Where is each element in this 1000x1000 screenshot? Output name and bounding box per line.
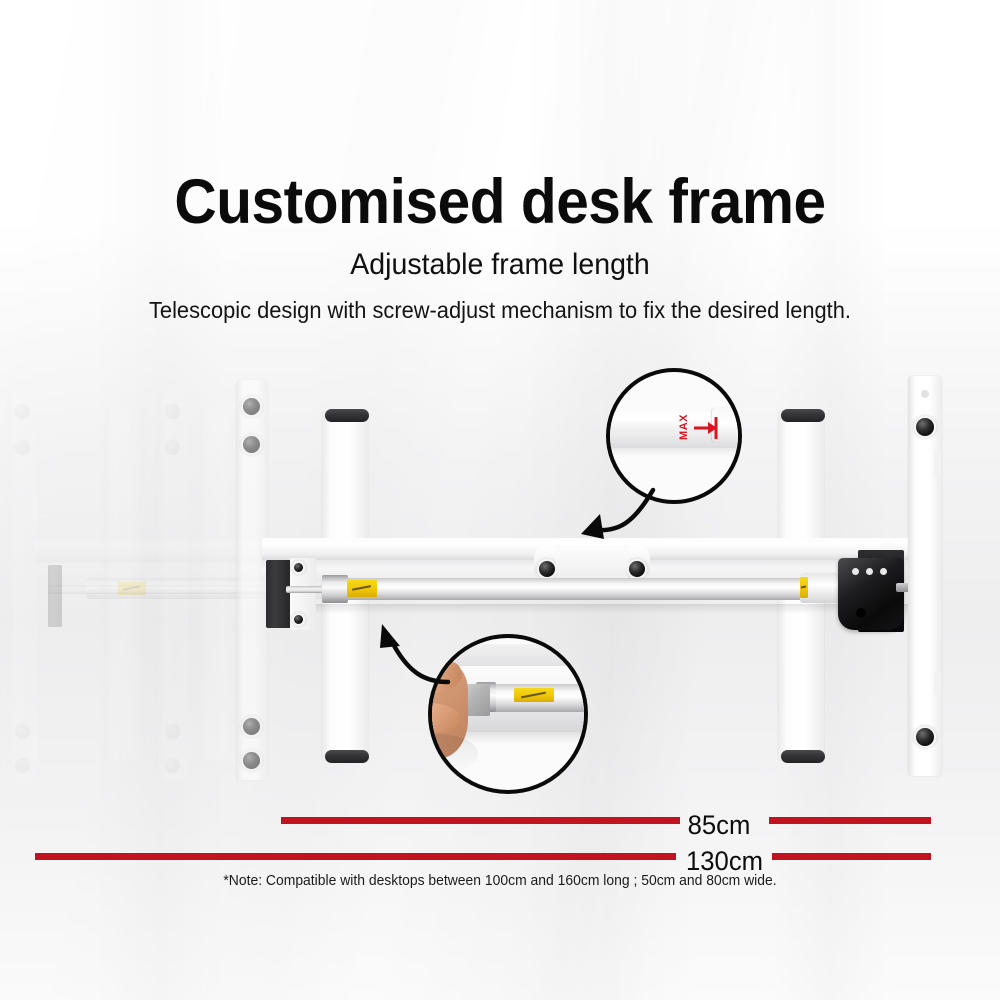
leg-bolt	[243, 718, 260, 735]
motor-pin	[866, 568, 873, 575]
ghost-bolt	[15, 724, 30, 739]
telescope-end-cap	[266, 560, 292, 628]
ghost-leg-post-3	[236, 380, 268, 780]
dimension-bar-85-left	[281, 817, 680, 824]
tube-warning-label	[347, 580, 377, 597]
left-bracket-pad-top	[325, 409, 369, 422]
dimension-bar-85-right	[769, 817, 931, 824]
ghost-bolt	[15, 758, 30, 773]
adjust-collar	[322, 575, 348, 603]
dimension-bar-130-left	[35, 853, 676, 860]
ghost-end-cap	[48, 565, 62, 627]
leg-bolt	[243, 398, 260, 415]
ghost-bolt	[165, 440, 180, 455]
frame-beam-shadow	[268, 604, 918, 614]
motor-pin	[852, 568, 859, 575]
ghost-bolt	[15, 440, 30, 455]
page-tagline: Telescopic design with screw-adjust mech…	[25, 297, 975, 324]
page-title: Customised desk frame	[35, 166, 965, 238]
infographic-canvas: Customised desk frame Adjustable frame l…	[0, 0, 1000, 1000]
callout-bottom-arrow-icon	[352, 620, 462, 698]
right-bracket-pad-bottom	[781, 750, 825, 763]
callout-beam-shadow	[606, 448, 742, 456]
dimension-bar-130-right	[772, 853, 931, 860]
leg-notch-lower	[934, 672, 941, 694]
motor-bolt	[856, 608, 866, 618]
right-leg-bolt-bottom	[916, 728, 934, 746]
page-subtitle: Adjustable frame length	[25, 248, 975, 282]
beam-mount-bolt-right	[629, 561, 645, 577]
leg-bolt	[243, 752, 260, 769]
detail-tube-label	[514, 688, 554, 702]
callout-top-arrow-icon	[548, 482, 658, 552]
end-cap-bolt-top	[294, 563, 303, 572]
motor-pin	[880, 568, 887, 575]
ghost-bolt	[15, 404, 30, 419]
compatibility-note: *Note: Compatible with desktops between …	[20, 873, 980, 889]
ghost-tube-label	[118, 582, 146, 595]
ghost-bolt	[165, 724, 180, 739]
right-leg-post	[908, 376, 942, 776]
ghost-bolt	[165, 404, 180, 419]
leg-notch-upper	[934, 454, 941, 476]
right-bracket-pad-top	[781, 409, 825, 422]
beam-mount-bolt-left	[539, 561, 555, 577]
telescopic-tube	[346, 578, 822, 600]
leg-screw-hole-top	[921, 390, 929, 398]
max-arrow-icon	[692, 416, 718, 440]
end-cap-bolt-bottom	[294, 615, 303, 624]
ghost-bolt	[165, 758, 180, 773]
max-marker-text: MAX	[678, 414, 690, 440]
right-leg-bolt-top	[916, 418, 934, 436]
left-bracket-pad-bottom	[325, 750, 369, 763]
sleeve-marker-label	[800, 577, 808, 598]
ghost-leg-post-1	[8, 388, 38, 780]
leg-bolt	[243, 436, 260, 453]
dimension-label-85: 85cm	[688, 810, 751, 841]
